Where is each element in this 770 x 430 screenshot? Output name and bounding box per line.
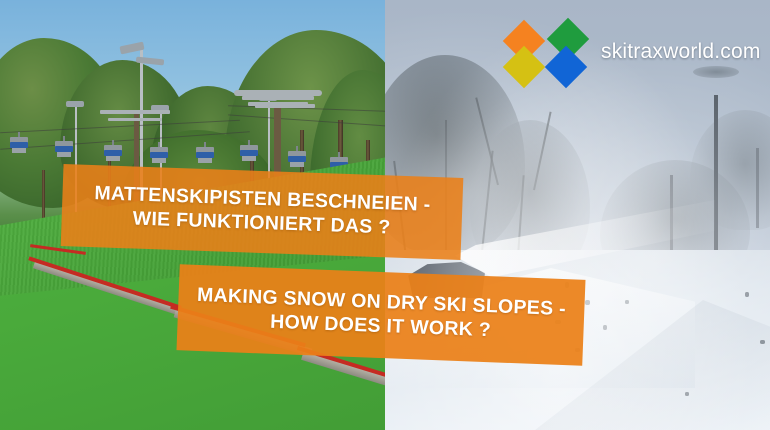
site-name: skitraxworld.com — [601, 40, 761, 64]
diamond-blue-icon — [545, 46, 587, 88]
headline-banner-english: MAKING SNOW ON DRY SKI SLOPES - HOW DOES… — [176, 264, 585, 366]
diamond-yellow-icon — [503, 46, 545, 88]
floodlight-head — [66, 101, 84, 107]
lift-pylon — [255, 104, 315, 134]
headline-banner-german: MATTENSKIPISTEN BESCHNEIEN - WIE FUNKTIO… — [61, 164, 464, 260]
promotional-image: skitraxworld.com MATTENSKIPISTEN BESCHNE… — [0, 0, 770, 430]
site-watermark[interactable]: skitraxworld.com — [505, 22, 755, 84]
